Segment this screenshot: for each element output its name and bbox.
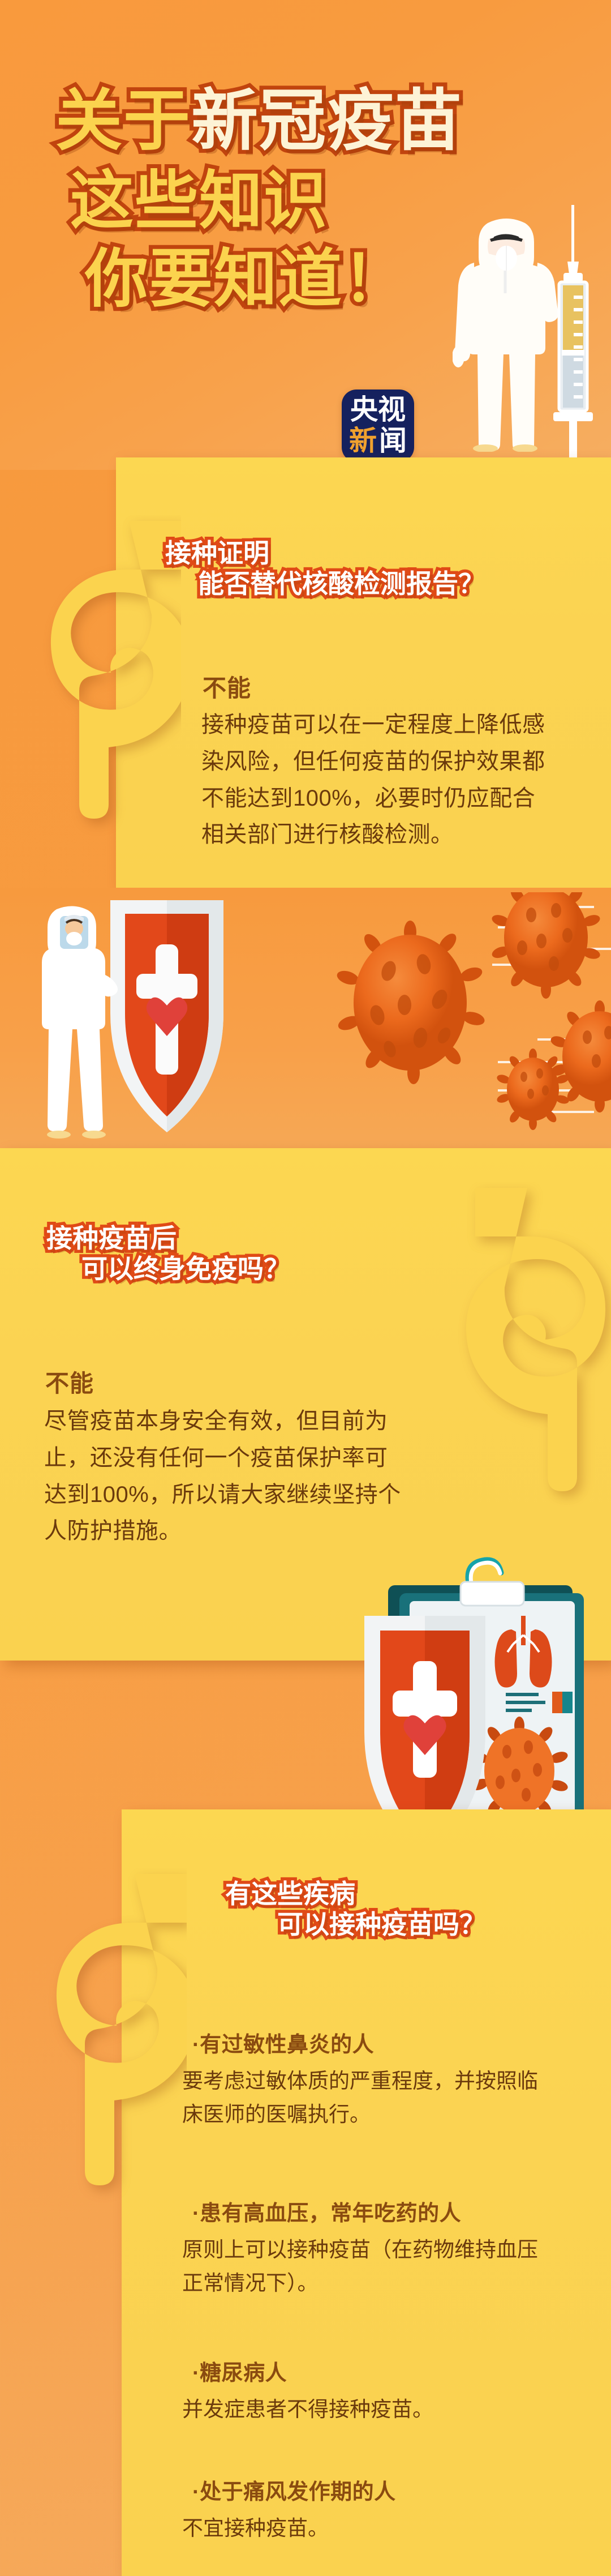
section-2-answer-label: 不能: [45, 1364, 94, 1399]
section-1-answer-body: 接种疫苗可以在一定程度上降低感染风险，但任何疫苗的保护效果都不能达到100%，必…: [201, 707, 545, 853]
logo-text-wen: 闻: [379, 427, 407, 455]
title-line-1-segment-a: 关于: [55, 84, 191, 159]
section-2-question-line2: 可以终身免疫吗？: [81, 1253, 290, 1284]
logo-row-bottom: 新闻: [346, 426, 410, 457]
section-2-question: 接种疫苗后 可以终身免疫吗？: [46, 1223, 290, 1285]
virus-particles-illustration: [328, 892, 611, 1141]
title-line-2: 这些知识: [70, 169, 485, 233]
section-3-bullet-3-title: ·糖尿病人: [192, 2355, 287, 2386]
logo-text-xin: 新: [349, 427, 377, 455]
hazmat-worker-with-shield-icon: [27, 904, 118, 1139]
title-line-1-segment-b: 新冠疫苗: [191, 84, 463, 159]
section-3-question: 有这些疾病 可以接种疫苗吗？: [225, 1878, 485, 1940]
title-line-3: 你要知道！: [85, 247, 485, 311]
section-2-answer-body: 尽管疫苗本身安全有效，但目前为止，还没有任何一个疫苗保护率可达到100%，所以请…: [44, 1403, 406, 1550]
hero-banner: 关于新冠疫苗 这些知识 你要知道！: [0, 0, 611, 470]
title-line-2-segment-a: 这些知识: [70, 165, 328, 236]
virus-medium-top: [490, 892, 601, 999]
section-3-bullet-4-body: 不宜接种疫苗。: [182, 2511, 556, 2545]
section-3-question-line1: 有这些疾病: [225, 1879, 355, 1909]
page-title: 关于新冠疫苗 这些知识 你要知道！: [55, 88, 485, 326]
section-3-bullet-1-title: ·有过敏性鼻炎的人: [192, 2027, 374, 2058]
syringe-icon: [548, 205, 599, 465]
section-3-bullet-4-title: ·处于痛风发作期的人: [192, 2474, 396, 2505]
logo-row-top: 央视: [346, 395, 410, 426]
section-3-bullet-2-body: 原则上可以接种疫苗（在药物维持血压正常情况下）。: [182, 2233, 556, 2300]
section-3-bullet-1-body: 要考虑过敏体质的严重程度，并按照临床医师的医嘱执行。: [182, 2064, 544, 2131]
clipboard-lungs-shield-illustration: [355, 1550, 604, 1847]
hazmat-worker-icon: [453, 214, 560, 452]
section-1-answer-label: 不能: [203, 669, 251, 704]
virus-small: [496, 1049, 570, 1130]
title-line-3-segment-a: 你要知道！: [85, 243, 407, 314]
section-3-question-line2: 可以接种疫苗吗？: [277, 1909, 485, 1940]
section-2-question-line1: 接种疫苗后: [46, 1223, 177, 1253]
shield-with-cross-and-heart-icon: [99, 895, 235, 1138]
virus-large: [335, 921, 487, 1084]
cctv-news-logo: 央视 新闻: [342, 390, 414, 462]
title-line-1: 关于新冠疫苗: [55, 88, 485, 155]
section-1-question-line2: 能否替代核酸检测报告？: [198, 568, 484, 599]
section-3-bullet-3-body: 并发症患者不得接种疫苗。: [182, 2393, 556, 2426]
section-3-bullet-2-title: ·患有高血压，常年吃药的人: [192, 2196, 461, 2227]
section-1-question: 接种证明 能否替代核酸检测报告？: [165, 538, 484, 600]
section-1-question-line1: 接种证明: [165, 538, 269, 568]
logo-text-yangshi: 央视: [350, 396, 406, 424]
